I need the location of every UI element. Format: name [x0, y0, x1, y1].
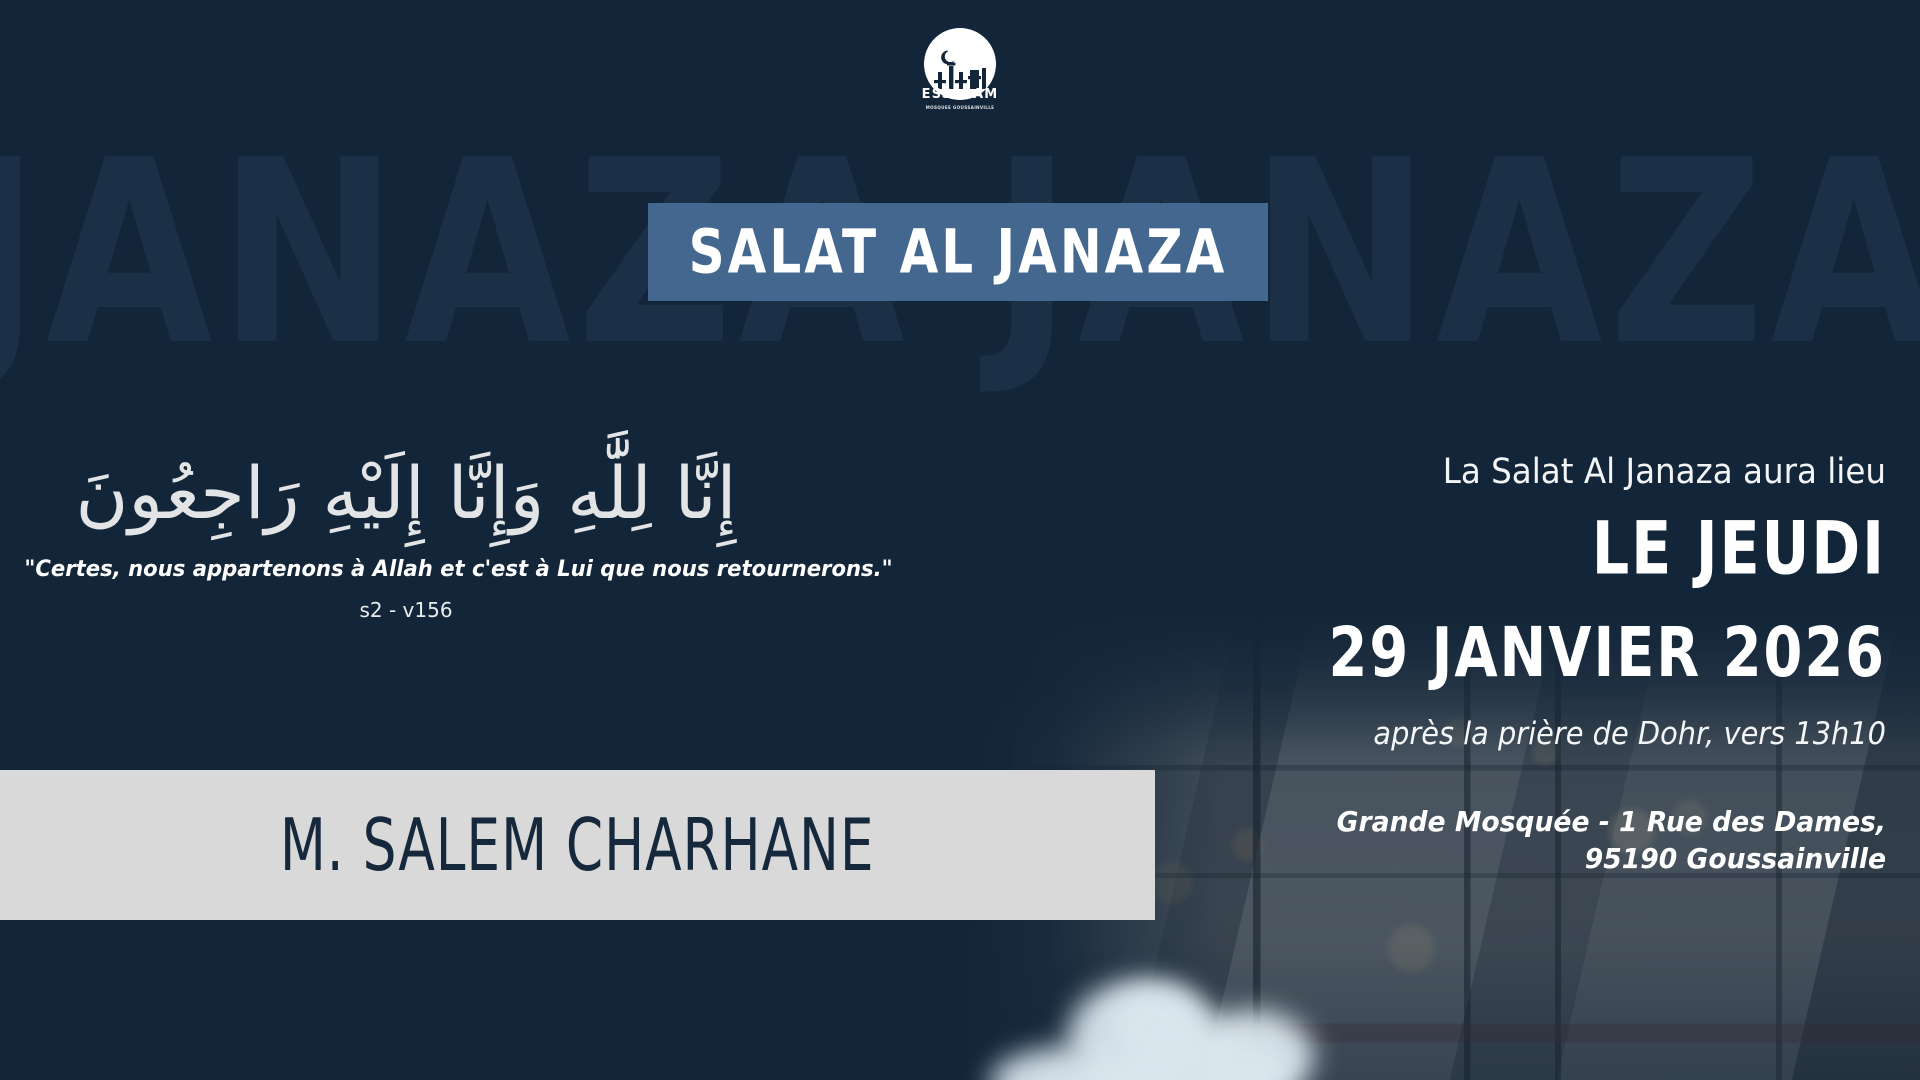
title-text: SALAT AL JANAZA [689, 217, 1228, 288]
deceased-name: M. SALEM CHARHANE [280, 803, 875, 888]
title-banner: SALAT AL JANAZA [648, 203, 1268, 301]
quran-verse-block: إِنَّا لِلَّٰهِ وَإِنَّا إِلَيْهِ رَاجِع… [0, 448, 812, 622]
address-line-1: Grande Mosquée - 1 Rue des Dames, [1088, 804, 1886, 841]
verse-french-translation: "Certes, nous appartenons à Allah et c'e… [24, 556, 787, 582]
details-time: après la prière de Dohr, vers 13h10 [1105, 716, 1886, 752]
essalam-logo: ESSALAM MOSQUEE GOUSSAINVILLE [916, 28, 1004, 112]
deceased-name-banner: M. SALEM CHARHANE [0, 770, 1155, 920]
address-line-2: 95190 Goussainville [1088, 841, 1886, 878]
logo-subtitle: MOSQUEE GOUSSAINVILLE [916, 105, 1004, 110]
event-details: La Salat Al Janaza aura lieu LE JEUDI 29… [1046, 452, 1886, 878]
janaza-announcement-poster: JANAZA JANAZA ESSALA [0, 0, 1920, 1080]
details-lead: La Salat Al Janaza aura lieu [1105, 452, 1886, 492]
verse-arabic-text: إِنَّا لِلَّٰهِ وَإِنَّا إِلَيْهِ رَاجِع… [0, 448, 812, 538]
verse-reference: s2 - v156 [0, 598, 812, 622]
details-date: 29 JANVIER 2026 [1063, 613, 1886, 692]
details-day: LE JEUDI [1063, 506, 1886, 591]
logo-wordmark: ESSALAM [916, 87, 1004, 102]
details-address: Grande Mosquée - 1 Rue des Dames, 95190 … [1088, 804, 1886, 878]
